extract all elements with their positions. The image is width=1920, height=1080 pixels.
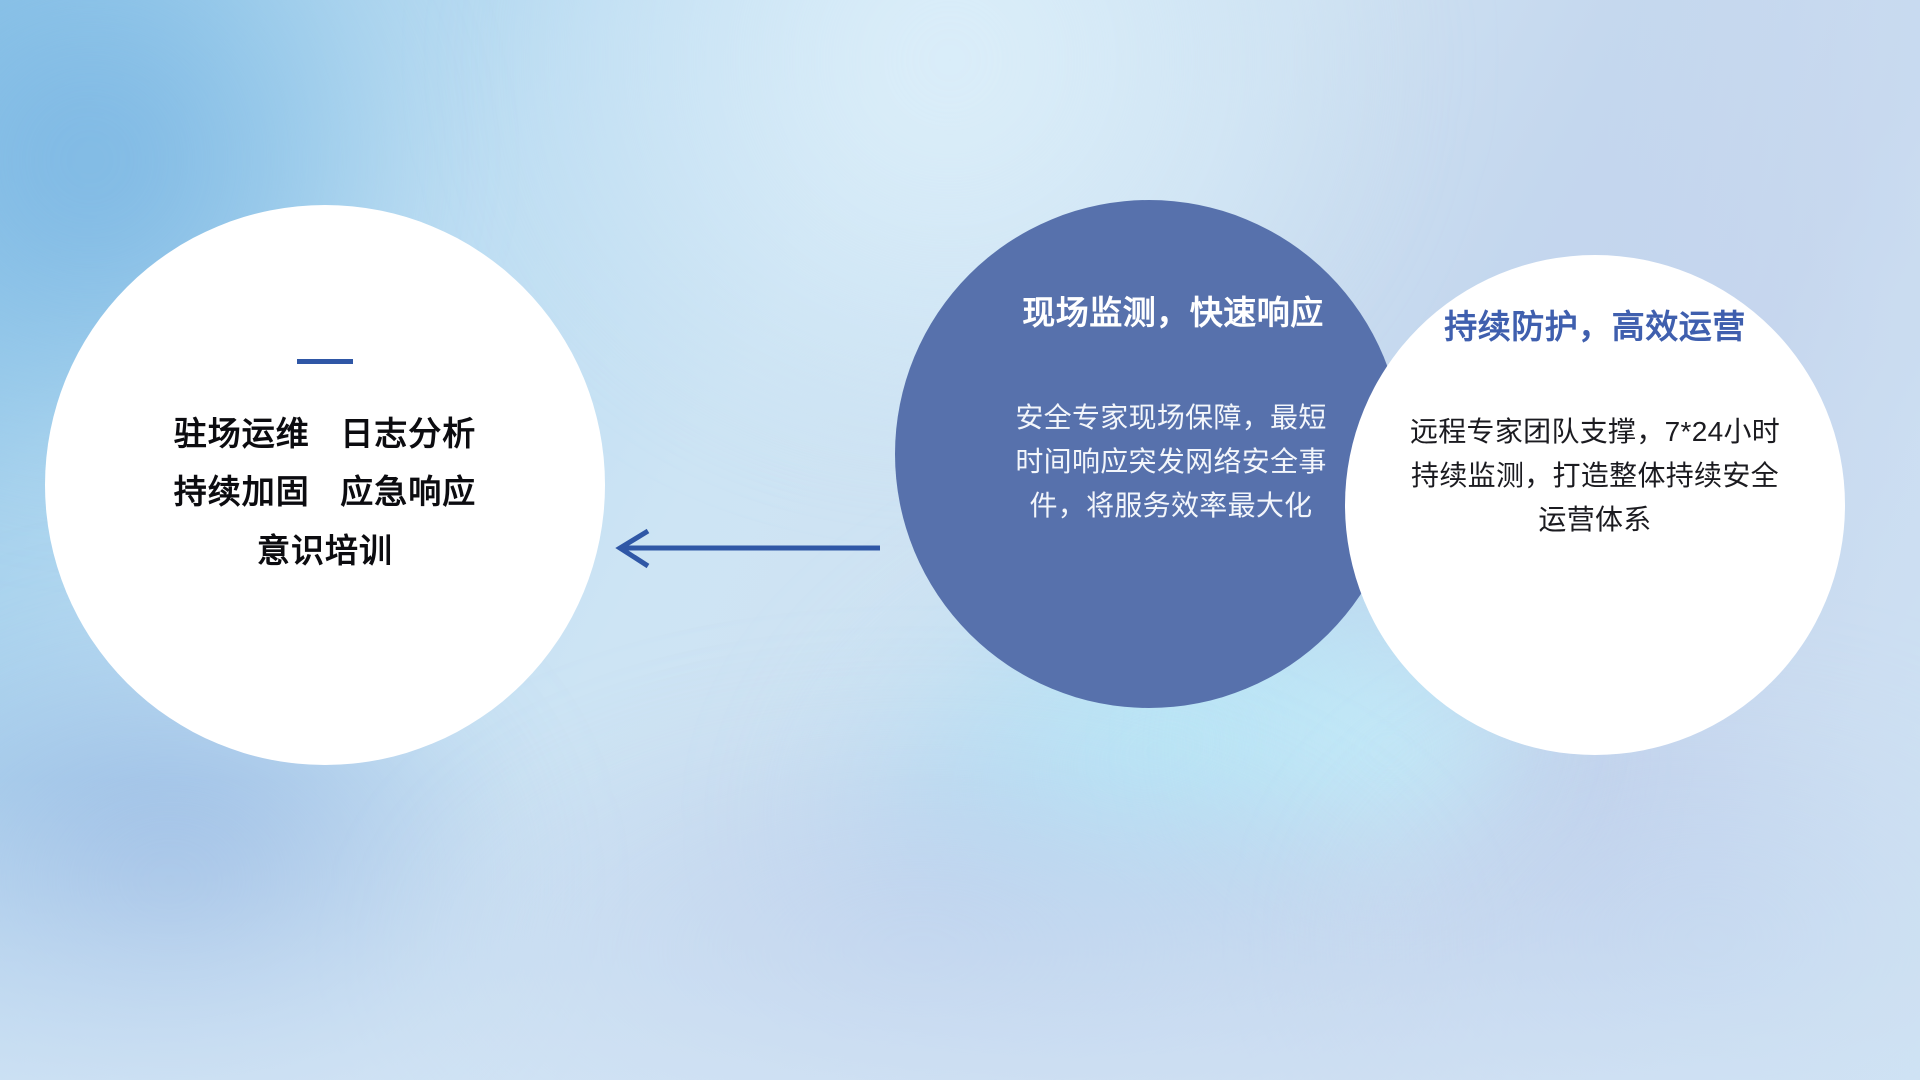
slide-canvas: 驻场运维 日志分析 持续加固 应急响应 意识培训 现场监测，快速响应 安全专家现… (0, 0, 1920, 1080)
middle-circle-body: 安全专家现场保障，最短时间响应突发网络安全事件，将服务效率最大化 (1006, 396, 1336, 529)
right-circle-title: 持续防护，高效运营 (1444, 300, 1746, 348)
left-circle-content: 驻场运维 日志分析 持续加固 应急响应 意识培训 (45, 205, 605, 765)
left-keyword-list: 驻场运维 日志分析 持续加固 应急响应 意识培训 (174, 416, 477, 569)
divider-dash (297, 359, 353, 364)
left-keyword-line: 持续加固 应急响应 (174, 474, 477, 510)
middle-circle-title: 现场监测，快速响应 (1022, 286, 1324, 334)
flow-arrow-left-icon (590, 515, 890, 585)
right-circle-content: 持续防护，高效运营 远程专家团队支撑，7*24小时持续监测，打造整体持续安全运营… (1345, 255, 1845, 755)
right-circle-body: 远程专家团队支撑，7*24小时持续监测，打造整体持续安全运营体系 (1409, 410, 1781, 543)
left-keyword-line: 驻场运维 日志分析 (174, 416, 477, 452)
middle-circle-content: 现场监测，快速响应 安全专家现场保障，最短时间响应突发网络安全事件，将服务效率最… (895, 200, 1403, 708)
left-keyword-line: 意识培训 (257, 533, 393, 569)
